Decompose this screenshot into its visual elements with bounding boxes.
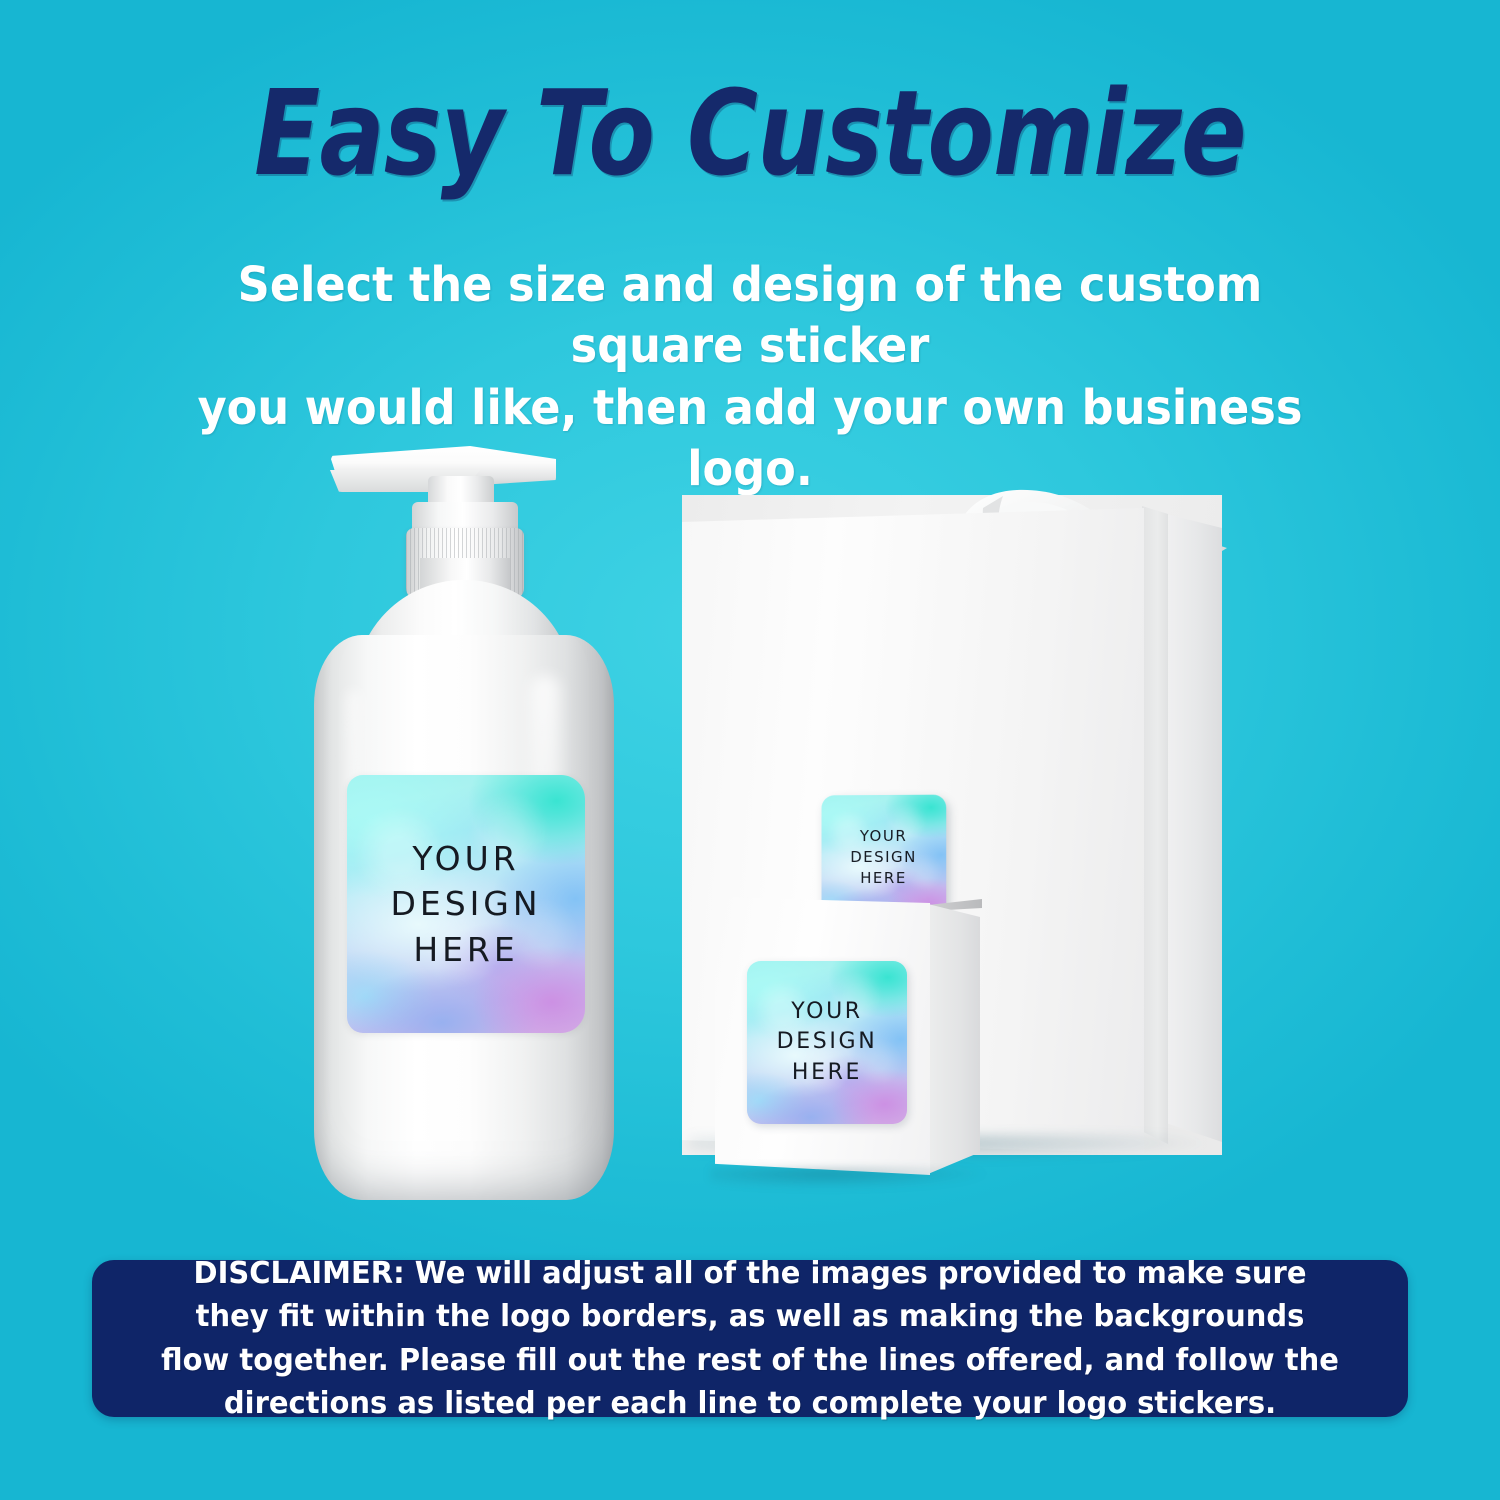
small-box-shadow — [710, 1167, 990, 1189]
sticker-line-1: YOUR — [412, 836, 519, 882]
promo-graphic: Easy To Customize Select the size and de… — [0, 0, 1500, 1500]
pump-bottle-mockup: YOUR DESIGN HERE — [300, 440, 630, 1230]
small-box-mockup: YOUR DESIGN HERE — [690, 885, 1010, 1185]
bottle-label-sticker: YOUR DESIGN HERE — [347, 775, 585, 1033]
bottle-label-text: YOUR DESIGN HERE — [347, 775, 585, 1033]
smallbox-sticker: YOUR DESIGN HERE — [747, 961, 907, 1124]
sticker-line-1: YOUR — [860, 826, 907, 847]
subtitle-line-1: Select the size and design of the custom… — [155, 255, 1345, 378]
small-box-side-panel — [928, 902, 980, 1174]
sticker-line-3: HERE — [413, 927, 518, 973]
product-mockup-scene: YOUR DESIGN HERE YOUR DESIGN HERE — [0, 400, 1500, 1230]
gift-box-back-panel — [1166, 510, 1222, 1142]
sticker-line-2: DESIGN — [850, 847, 917, 868]
gift-box-side-panel — [1142, 504, 1168, 1144]
disclaimer-text: DISCLAIMER: We will adjust all of the im… — [125, 1252, 1375, 1425]
sticker-line-2: DESIGN — [391, 881, 542, 927]
page-title: Easy To Customize — [135, 72, 1365, 196]
disclaimer-label: DISCLAIMER: — [194, 1256, 405, 1291]
sticker-line-3: HERE — [792, 1058, 862, 1088]
smallbox-sticker-text: YOUR DESIGN HERE — [747, 961, 907, 1124]
sticker-line-2: DESIGN — [777, 1027, 878, 1057]
sticker-line-1: YOUR — [791, 997, 863, 1027]
disclaimer-banner: DISCLAIMER: We will adjust all of the im… — [92, 1260, 1408, 1417]
